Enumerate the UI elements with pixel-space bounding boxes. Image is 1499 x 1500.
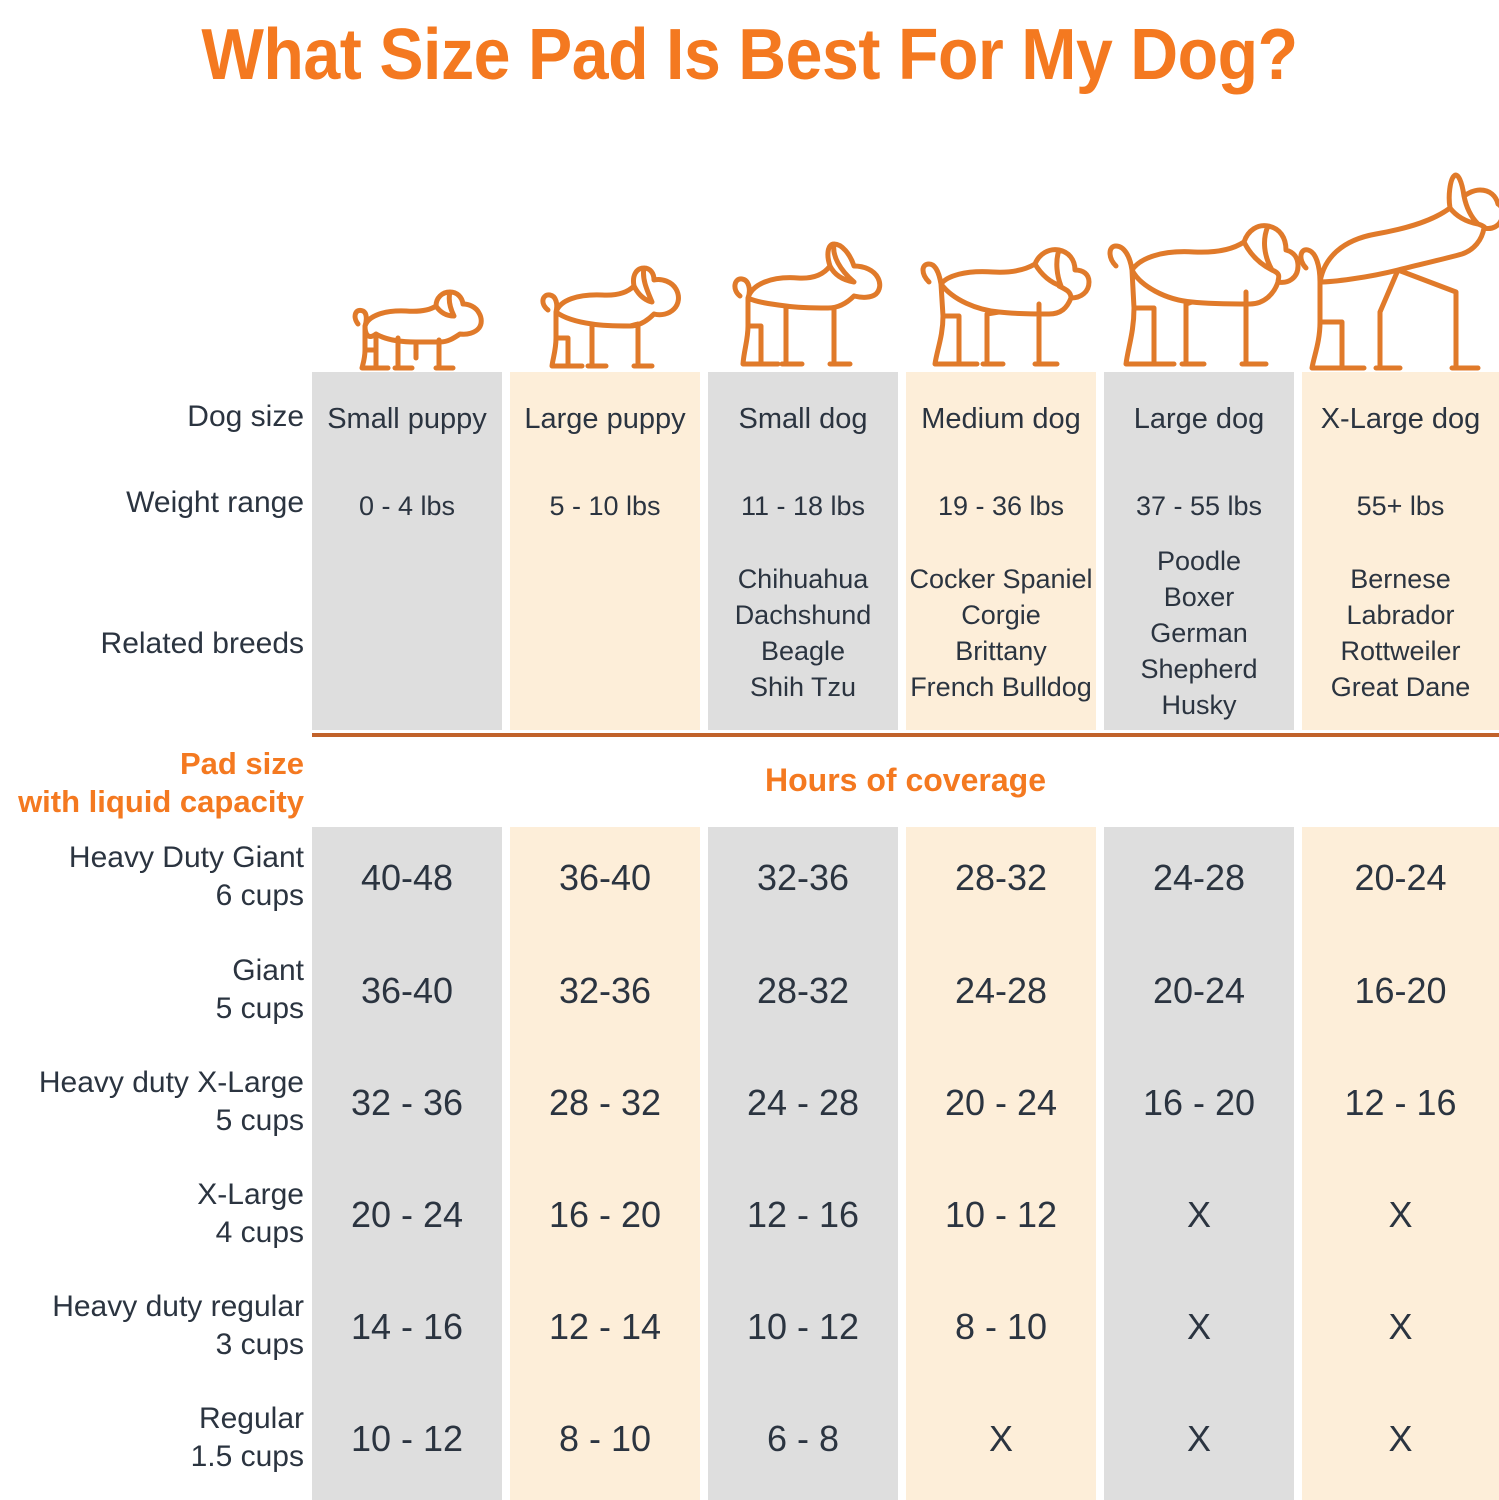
small-dog-icon [708, 240, 906, 372]
pad-row-capacity: 4 cups [197, 1214, 304, 1252]
coverage-cell-r5-c5: X [1302, 1418, 1499, 1460]
medium-dog-icon [906, 242, 1104, 372]
pad-row-label-5: Regular1.5 cups [191, 1400, 304, 1475]
coverage-cell-r2-c4: 16 - 20 [1104, 1082, 1294, 1124]
pad-row-label-3: X-Large4 cups [197, 1176, 304, 1251]
large-dog-icon [1104, 222, 1302, 372]
cell-breeds-4: PoodleBoxerGermanShepherdHusky [1104, 544, 1294, 724]
coverage-cell-r0-c0: 40-48 [312, 857, 502, 899]
breed-item: German [1104, 616, 1294, 652]
coverage-cell-r3-c4: X [1104, 1194, 1294, 1236]
data-column-band-large-puppy [510, 827, 700, 1500]
data-column-band-small-puppy [312, 827, 502, 1500]
coverage-cell-r4-c0: 14 - 16 [312, 1306, 502, 1348]
pad-size-header-line1: Pad size [18, 745, 304, 783]
coverage-cell-r1-c4: 20-24 [1104, 970, 1294, 1012]
cell-breeds-3: Cocker SpanielCorgieBrittanyFrench Bulld… [906, 562, 1096, 706]
coverage-cell-r1-c0: 36-40 [312, 970, 502, 1012]
breed-item: Cocker Spaniel [906, 562, 1096, 598]
coverage-cell-r2-c2: 24 - 28 [708, 1082, 898, 1124]
pad-coverage-table: Heavy Duty Giant6 cups40-4836-4032-3628-… [0, 827, 1499, 1500]
coverage-cell-r3-c2: 12 - 16 [708, 1194, 898, 1236]
coverage-cell-r5-c3: X [906, 1418, 1096, 1460]
cell-dog-size-2: Small dog [708, 400, 898, 439]
coverage-cell-r0-c3: 28-32 [906, 857, 1096, 899]
breed-item: Great Dane [1302, 670, 1499, 706]
breed-item: Chihuahua [708, 562, 898, 598]
pad-row-name: Regular [191, 1400, 304, 1438]
pad-size-header-line2: with liquid capacity [18, 783, 304, 821]
pad-row-name: Heavy duty X-Large [39, 1064, 304, 1102]
coverage-cell-r2-c0: 32 - 36 [312, 1082, 502, 1124]
coverage-cell-r5-c0: 10 - 12 [312, 1418, 502, 1460]
cell-dog-size-1: Large puppy [510, 400, 700, 439]
breed-item: Bernese [1302, 562, 1499, 598]
pad-row-name: Heavy duty regular [52, 1288, 304, 1326]
breed-item: French Bulldog [906, 670, 1096, 706]
pad-row-label-1: Giant5 cups [216, 952, 304, 1027]
coverage-cell-r3-c5: X [1302, 1194, 1499, 1236]
pad-row-label-2: Heavy duty X-Large5 cups [39, 1064, 304, 1139]
cell-weight-3: 19 - 36 lbs [906, 489, 1096, 525]
breed-item: Shepherd [1104, 652, 1294, 688]
data-column-band-medium-dog [906, 827, 1096, 1500]
breed-item: Brittany [906, 634, 1096, 670]
coverage-cell-r1-c3: 24-28 [906, 970, 1096, 1012]
coverage-cell-r5-c2: 6 - 8 [708, 1418, 898, 1460]
breed-item: Beagle [708, 634, 898, 670]
cell-breeds-5: BerneseLabradorRottweilerGreat Dane [1302, 562, 1499, 706]
coverage-cell-r1-c2: 28-32 [708, 970, 898, 1012]
pad-row-capacity: 5 cups [216, 990, 304, 1028]
coverage-cell-r5-c1: 8 - 10 [510, 1418, 700, 1460]
cell-weight-4: 37 - 55 lbs [1104, 489, 1294, 525]
data-column-band-large-dog [1104, 827, 1294, 1500]
cell-dog-size-3: Medium dog [906, 400, 1096, 439]
coverage-cell-r0-c2: 32-36 [708, 857, 898, 899]
hours-of-coverage-header: Hours of coverage [312, 762, 1499, 799]
cell-weight-0: 0 - 4 lbs [312, 489, 502, 525]
pad-row-capacity: 5 cups [39, 1102, 304, 1140]
pad-row-capacity: 1.5 cups [191, 1438, 304, 1476]
pad-row-capacity: 3 cups [52, 1326, 304, 1364]
pad-row-capacity: 6 cups [69, 877, 304, 915]
coverage-cell-r1-c1: 32-36 [510, 970, 700, 1012]
breed-item: Rottweiler [1302, 634, 1499, 670]
breed-item: Corgie [906, 598, 1096, 634]
breed-item: Poodle [1104, 544, 1294, 580]
row-label-related-breeds: Related breeds [101, 627, 304, 661]
pad-row-label-4: Heavy duty regular3 cups [52, 1288, 304, 1363]
data-column-band-xlarge-dog [1302, 827, 1499, 1500]
row-label-dog-size: Dog size [187, 400, 304, 434]
coverage-cell-r0-c1: 36-40 [510, 857, 700, 899]
coverage-cell-r1-c5: 16-20 [1302, 970, 1499, 1012]
coverage-cell-r2-c5: 12 - 16 [1302, 1082, 1499, 1124]
coverage-cell-r0-c5: 20-24 [1302, 857, 1499, 899]
coverage-cell-r3-c1: 16 - 20 [510, 1194, 700, 1236]
cell-dog-size-4: Large dog [1104, 400, 1294, 439]
cell-dog-size-5: X-Large dog [1302, 400, 1499, 439]
data-column-band-small-dog [708, 827, 898, 1500]
coverage-cell-r3-c0: 20 - 24 [312, 1194, 502, 1236]
coverage-cell-r5-c4: X [1104, 1418, 1294, 1460]
page-title: What Size Pad Is Best For My Dog? [60, 0, 1439, 110]
coverage-cell-r3-c3: 10 - 12 [906, 1194, 1096, 1236]
coverage-cell-r4-c1: 12 - 14 [510, 1306, 700, 1348]
breed-item: Boxer [1104, 580, 1294, 616]
cell-weight-5: 55+ lbs [1302, 489, 1499, 525]
pad-row-name: X-Large [197, 1176, 304, 1214]
cell-breeds-2: ChihuahuaDachshundBeagleShih Tzu [708, 562, 898, 706]
breed-item: Shih Tzu [708, 670, 898, 706]
section-divider [312, 733, 1499, 737]
cell-weight-2: 11 - 18 lbs [708, 489, 898, 525]
breed-item: Labrador [1302, 598, 1499, 634]
pad-row-name: Heavy Duty Giant [69, 839, 304, 877]
breed-item: Dachshund [708, 598, 898, 634]
large-puppy-icon [510, 262, 708, 372]
pad-row-name: Giant [216, 952, 304, 990]
coverage-cell-r2-c1: 28 - 32 [510, 1082, 700, 1124]
coverage-cell-r0-c4: 24-28 [1104, 857, 1294, 899]
dog-size-table: Dog size Small puppy Large puppy Small d… [0, 372, 1499, 730]
pad-size-header: Pad size with liquid capacity [18, 745, 304, 821]
coverage-cell-r4-c4: X [1104, 1306, 1294, 1348]
small-puppy-icon [312, 280, 510, 372]
row-label-weight-range: Weight range [126, 486, 304, 520]
coverage-cell-r4-c3: 8 - 10 [906, 1306, 1096, 1348]
coverage-cell-r2-c3: 20 - 24 [906, 1082, 1096, 1124]
coverage-cell-r4-c5: X [1302, 1306, 1499, 1348]
coverage-cell-r4-c2: 10 - 12 [708, 1306, 898, 1348]
pad-row-label-0: Heavy Duty Giant6 cups [69, 839, 304, 914]
cell-dog-size-0: Small puppy [312, 400, 502, 439]
cell-weight-1: 5 - 10 lbs [510, 489, 700, 525]
dog-silhouette-strip [312, 160, 1499, 372]
xlarge-dog-icon [1302, 172, 1499, 372]
breed-item: Husky [1104, 688, 1294, 724]
